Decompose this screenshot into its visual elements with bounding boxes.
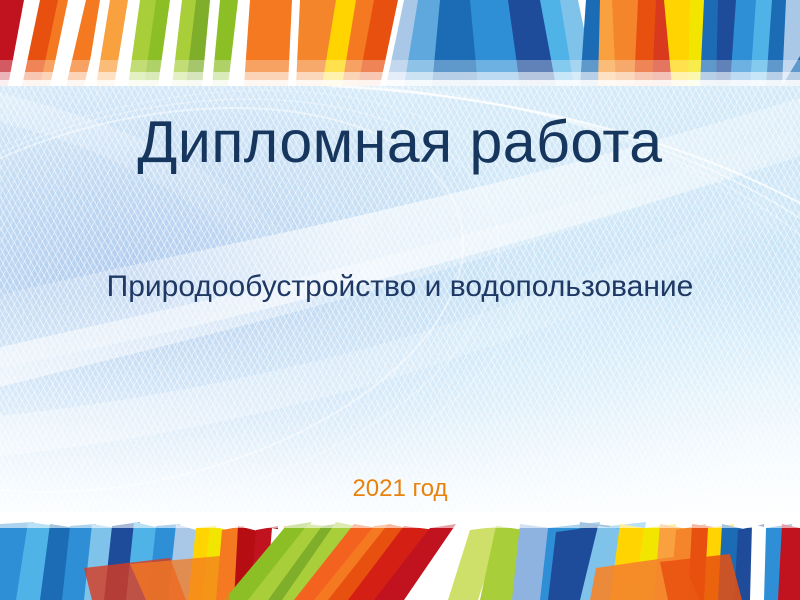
slide-year: 2021 год (0, 475, 800, 503)
top-decoration-band (0, 0, 800, 86)
slide-title: Дипломная работа (0, 112, 800, 174)
slide-subtitle: Природообустройство и водопользование (0, 270, 800, 304)
presentation-slide: Дипломная работа Природообустройство и в… (0, 0, 800, 600)
bottom-decoration-band (0, 512, 800, 600)
